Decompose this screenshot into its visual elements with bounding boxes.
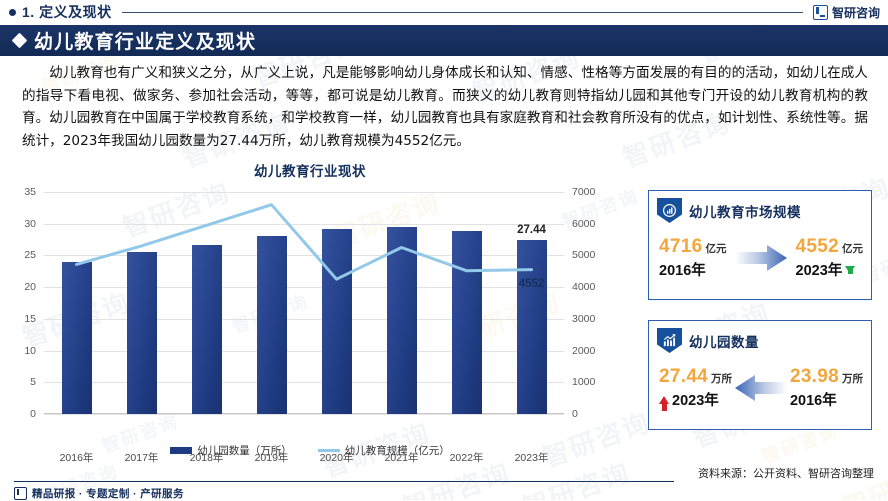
y-axis-left-tick: 30	[0, 218, 36, 230]
y-axis-left-tick: 10	[0, 345, 36, 357]
line-value-label: 4552	[519, 278, 545, 290]
card-body: 27.44 万所 2023年 23	[649, 353, 871, 419]
stat-right: 23.98 万所 2016年	[790, 366, 863, 410]
diamond-bullet-icon	[12, 33, 28, 49]
y-axis-right-tick: 0	[572, 408, 612, 420]
bar-chart-up-badge-icon	[657, 328, 682, 353]
legend-swatch	[170, 447, 192, 454]
legend-swatch	[318, 449, 340, 452]
source-note: 资料来源：公开资料、智研咨询整理	[698, 465, 874, 481]
y-axis-right-tick: 6000	[572, 218, 612, 230]
y-axis-right-tick: 7000	[572, 186, 612, 198]
y-axis-right-tick: 2000	[572, 345, 612, 357]
stat-year: 2023年	[659, 389, 732, 410]
bar-value-label: 27.44	[517, 224, 546, 236]
stat-year: 2023年	[796, 259, 863, 280]
stat-value: 23.98	[790, 366, 839, 388]
legend-item: 幼儿园数量（万所）	[170, 443, 292, 458]
chart-legend: 幼儿园数量（万所）幼儿教育规模（亿元）	[0, 443, 620, 458]
brand-logo: 智研咨询	[813, 4, 880, 21]
legend-item: 幼儿教育规模（亿元）	[318, 443, 450, 458]
trend-down-icon	[845, 266, 855, 274]
stat-year-label: 2023年	[672, 389, 719, 410]
y-axis-left-tick: 20	[0, 281, 36, 293]
arrow-right-icon	[726, 243, 795, 273]
legend-label: 幼儿教育规模（亿元）	[345, 443, 450, 458]
section-label: 1. 定义及现状	[22, 2, 112, 22]
y-axis-left-tick: 15	[0, 313, 36, 325]
footer-tagline-text: 精品研报 · 专题定制 · 产研服务	[32, 486, 184, 501]
body-paragraph: 幼儿教育也有广义和狭义之分，从广义上说，凡是能够影响幼儿身体成长和认知、情感、性…	[22, 62, 868, 152]
stat-right: 4552 亿元 2023年	[796, 236, 863, 280]
stat-unit: 亿元	[842, 241, 863, 256]
card-body: 4716 亿元 2016年 4552 亿元	[649, 223, 871, 289]
bullet-icon	[9, 9, 16, 16]
grid-line	[44, 414, 564, 415]
stat-year: 2016年	[790, 389, 863, 410]
y-axis-right-tick: 3000	[572, 313, 612, 325]
header-divider	[122, 12, 803, 13]
chart-plot-area: 0051000102000153000204000255000306000357…	[44, 192, 564, 414]
stat-unit: 亿元	[705, 241, 726, 256]
y-axis-left-tick: 35	[0, 186, 36, 198]
y-axis-right-tick: 4000	[572, 281, 612, 293]
footer-tagline: 精品研报 · 专题定制 · 产研服务	[14, 486, 184, 501]
stat-unit: 万所	[842, 371, 863, 386]
card-header: 幼儿教育市场规模	[649, 191, 871, 223]
stat-card-market-size: 幼儿教育市场规模 4716 亿元 2016年	[648, 190, 872, 300]
top-section-bar: 1. 定义及现状 智研咨询	[0, 0, 888, 24]
y-axis-left-tick: 0	[0, 408, 36, 420]
y-axis-left-tick: 25	[0, 249, 36, 261]
card-title: 幼儿园数量	[689, 331, 759, 351]
stat-left: 4716 亿元 2016年	[659, 236, 726, 280]
line-series	[44, 192, 564, 414]
brand-name: 智研咨询	[832, 4, 880, 21]
stat-left: 27.44 万所 2023年	[659, 366, 732, 410]
stat-card-kindergarten-count: 幼儿园数量 27.44 万所 2023年	[648, 320, 872, 430]
stat-year-label: 2023年	[796, 259, 843, 280]
brand-mark-icon	[813, 5, 828, 20]
y-axis-right-tick: 5000	[572, 249, 612, 261]
y-axis-left-tick: 5	[0, 376, 36, 388]
chart-title: 幼儿教育行业现状	[0, 160, 620, 180]
card-title: 幼儿教育市场规模	[689, 201, 801, 221]
brand-mark-icon	[14, 487, 27, 500]
y-axis-right-tick: 1000	[572, 376, 612, 388]
stat-value: 27.44	[659, 366, 708, 388]
stat-value: 4552	[796, 236, 839, 258]
arrow-left-icon	[732, 373, 790, 403]
stat-unit: 万所	[711, 371, 732, 386]
stat-year: 2016年	[659, 259, 726, 280]
chart-container: 幼儿教育行业现状 0051000102000153000204000255000…	[0, 160, 620, 470]
card-header: 幼儿园数量	[649, 321, 871, 353]
page-title-bar: 幼儿教育行业定义及现状	[0, 25, 888, 56]
legend-label: 幼儿园数量（万所）	[197, 443, 292, 458]
stat-value: 4716	[659, 236, 702, 258]
trend-up-icon	[659, 396, 669, 404]
footer-divider	[14, 481, 674, 482]
page-title: 幼儿教育行业定义及现状	[34, 27, 256, 54]
pie-chart-badge-icon	[657, 198, 682, 223]
